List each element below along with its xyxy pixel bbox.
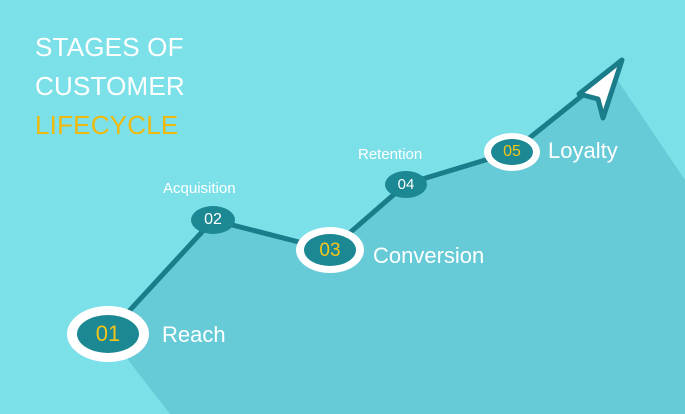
stage-number-02: 02 — [204, 212, 222, 228]
stage-number-04: 04 — [398, 177, 415, 192]
stage-badge-04[interactable]: 04 — [385, 171, 427, 198]
stage-number-03: 03 — [319, 241, 340, 260]
stage-label-loyalty: Loyalty — [548, 138, 618, 164]
stage-badge-03-inner: 03 — [304, 234, 356, 266]
title-line-1: STAGES OF — [35, 28, 185, 67]
stage-number-01: 01 — [96, 323, 120, 345]
title-line-3: LIFECYCLE — [35, 106, 185, 145]
title-line-2: CUSTOMER — [35, 67, 185, 106]
stage-badge-05-inner: 05 — [491, 139, 533, 165]
stage-label-retention: Retention — [358, 146, 422, 163]
stage-badge-05[interactable]: 05 — [484, 133, 540, 171]
stage-badge-01[interactable]: 01 — [67, 306, 149, 362]
page-title: STAGES OF CUSTOMER LIFECYCLE — [35, 28, 185, 145]
stage-badge-02-inner: 02 — [191, 206, 235, 234]
stage-number-05: 05 — [503, 144, 521, 160]
stage-badge-03[interactable]: 03 — [296, 227, 364, 273]
stage-label-conversion: Conversion — [373, 243, 484, 269]
infographic-canvas: STAGES OF CUSTOMER LIFECYCLE 01 Reach 02… — [0, 0, 685, 414]
stage-badge-02[interactable]: 02 — [191, 206, 235, 234]
stage-label-reach: Reach — [162, 322, 226, 348]
stage-badge-01-inner: 01 — [77, 315, 139, 353]
stage-label-acquisition: Acquisition — [163, 180, 236, 197]
stage-badge-04-inner: 04 — [385, 171, 427, 198]
